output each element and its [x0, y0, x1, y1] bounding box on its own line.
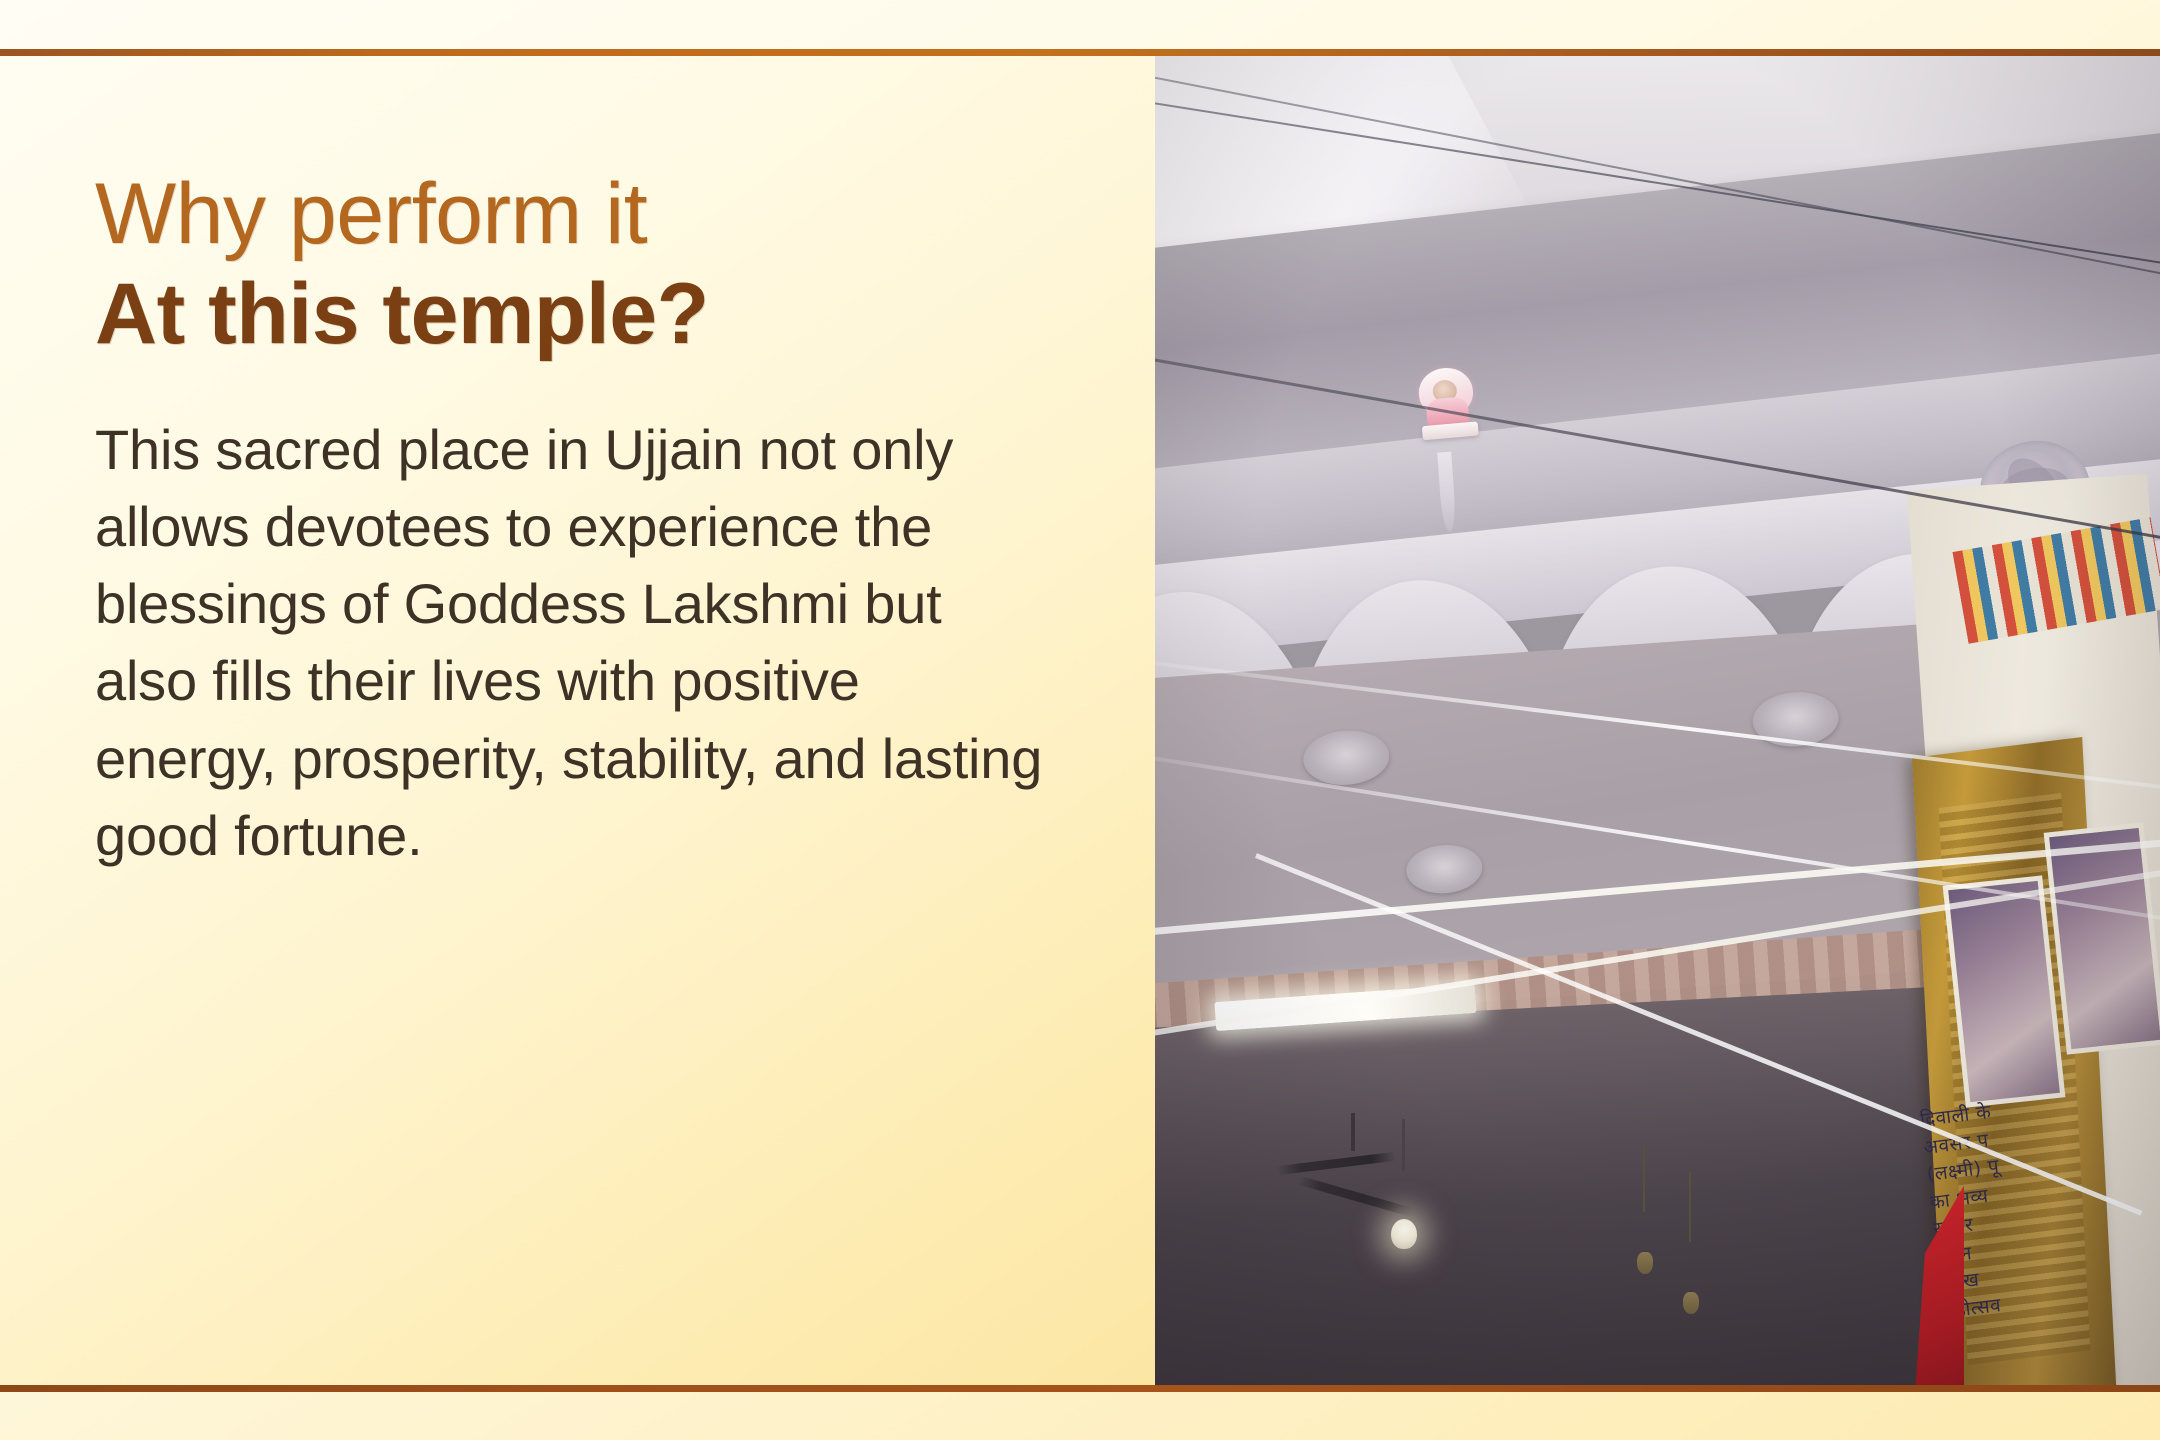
body-paragraph: This sacred place in Ujjain not only all… [95, 411, 1055, 875]
slide-root: Why perform it At this temple? This sacr… [0, 0, 2160, 1440]
bell-rod [1689, 1172, 1691, 1242]
bell-rod [1643, 1146, 1645, 1212]
idol-base [1422, 422, 1479, 441]
top-divider-rule [0, 49, 2160, 56]
heading-line-1: Why perform it [95, 166, 1055, 262]
ceiling-medallion [1405, 842, 1484, 895]
temple-photo-scene: दिवाली के अवसर प (लक्ष्मी) पू का भव्य रा… [1155, 56, 2160, 1385]
bottom-divider-rule [0, 1385, 2160, 1392]
temple-bell-icon [1683, 1292, 1699, 1314]
heading-line-2: At this temple? [95, 266, 1055, 362]
hanging-lamp-rod [1402, 1119, 1405, 1171]
text-block: Why perform it At this temple? This sacr… [95, 166, 1055, 874]
ceiling-medallion [1302, 727, 1392, 787]
temple-photo: दिवाली के अवसर प (लक्ष्मी) पू का भव्य रा… [1155, 56, 2160, 1385]
hanging-lamp [1391, 1219, 1417, 1249]
ceiling-fan-rod [1351, 1113, 1355, 1151]
text-panel: Why perform it At this temple? This sacr… [0, 56, 1155, 1385]
page-title: Why perform it At this temple? [95, 166, 1055, 363]
